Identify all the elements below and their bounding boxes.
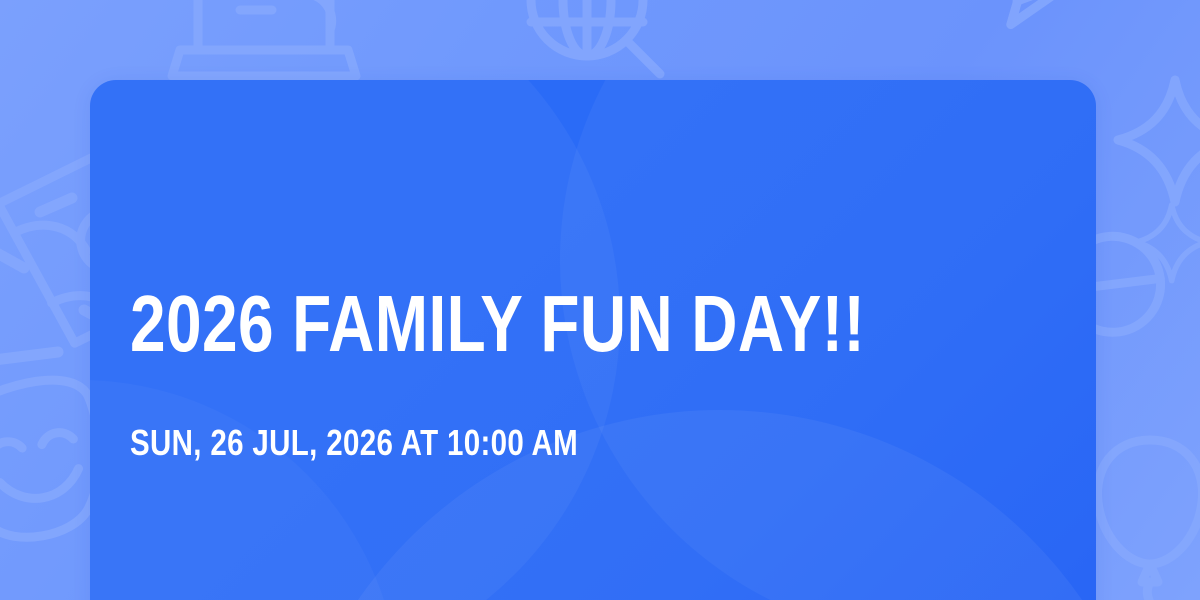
laptop-icon (170, 0, 366, 90)
event-card: 2026 FAMILY FUN DAY!! SUN, 26 JUL, 2026 … (90, 80, 1096, 600)
balloon-icon (1097, 440, 1200, 600)
event-title: 2026 FAMILY FUN DAY!! (130, 278, 865, 370)
sparkle-icon (1118, 80, 1200, 202)
globe-icon (531, 0, 660, 74)
event-card-content: 2026 FAMILY FUN DAY!! SUN, 26 JUL, 2026 … (130, 80, 1056, 600)
event-datetime: SUN, 26 JUL, 2026 AT 10:00 AM (130, 420, 578, 466)
sparkle-icon (1136, 205, 1200, 281)
event-banner: 2026 FAMILY FUN DAY!! SUN, 26 JUL, 2026 … (0, 0, 1200, 600)
party-popper-icon (983, 0, 1188, 25)
